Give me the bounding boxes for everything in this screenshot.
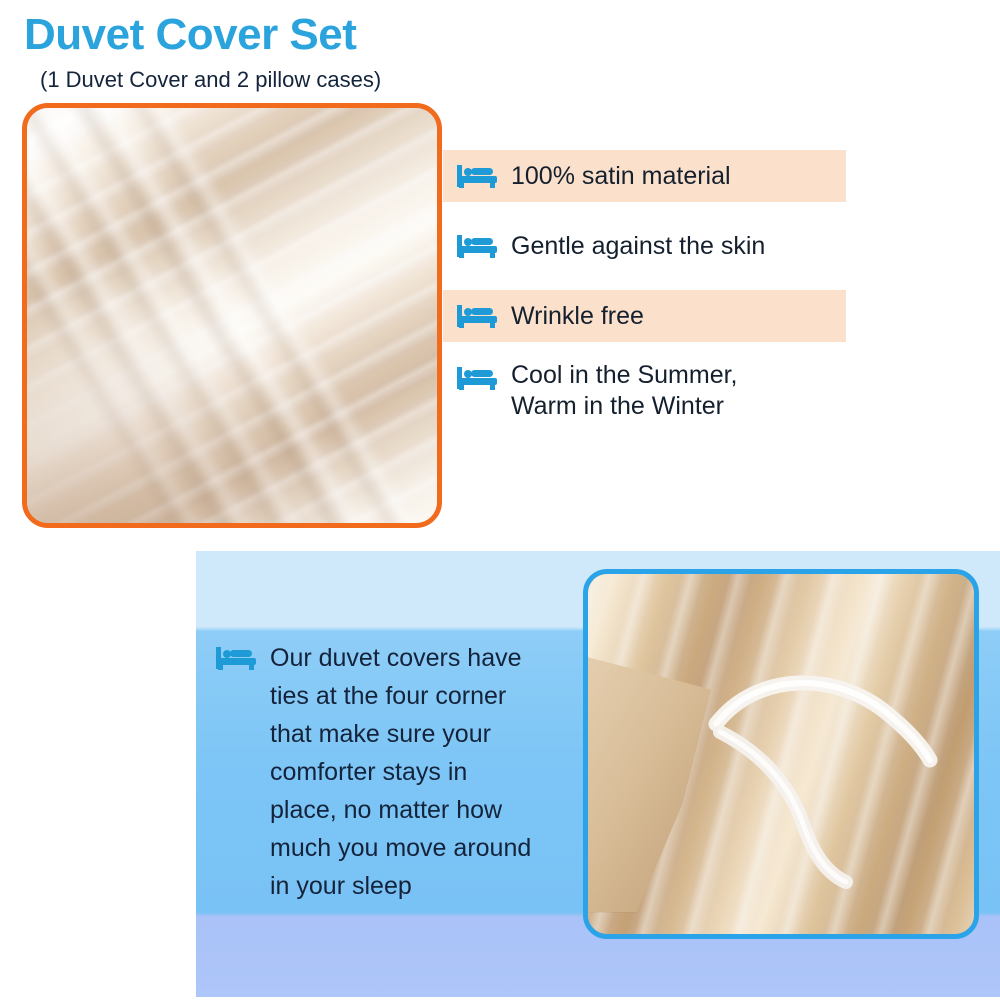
fabric-closeup-photo <box>22 103 442 528</box>
feature-item: Wrinkle free <box>443 290 846 342</box>
bed-icon <box>457 303 497 329</box>
ties-description-block: Our duvet covers have ties at the four c… <box>216 639 586 905</box>
corner-ties-photo <box>583 569 979 939</box>
white-ribbon-ties <box>588 574 974 934</box>
bed-icon <box>457 163 497 189</box>
bed-icon <box>216 645 256 671</box>
feature-item: Cool in the Summer, Warm in the Winter <box>443 360 863 421</box>
feature-label: Gentle against the skin <box>497 231 765 262</box>
feature-item: Gentle against the skin <box>443 220 863 272</box>
page-title: Duvet Cover Set <box>24 12 356 58</box>
ties-description-text: Our duvet covers have ties at the four c… <box>256 639 531 905</box>
bed-icon <box>457 365 497 391</box>
feature-item: 100% satin material <box>443 150 846 202</box>
feature-label: Cool in the Summer, Warm in the Winter <box>497 360 738 421</box>
feature-list: 100% satin material Gentle against the s… <box>443 150 863 421</box>
bed-icon <box>457 233 497 259</box>
fabric-shadow-glow <box>22 103 442 528</box>
header-block: Duvet Cover Set (1 Duvet Cover and 2 pil… <box>0 0 470 105</box>
page-subtitle: (1 Duvet Cover and 2 pillow cases) <box>40 68 381 92</box>
feature-label: Wrinkle free <box>497 301 644 332</box>
feature-label: 100% satin material <box>497 161 731 192</box>
